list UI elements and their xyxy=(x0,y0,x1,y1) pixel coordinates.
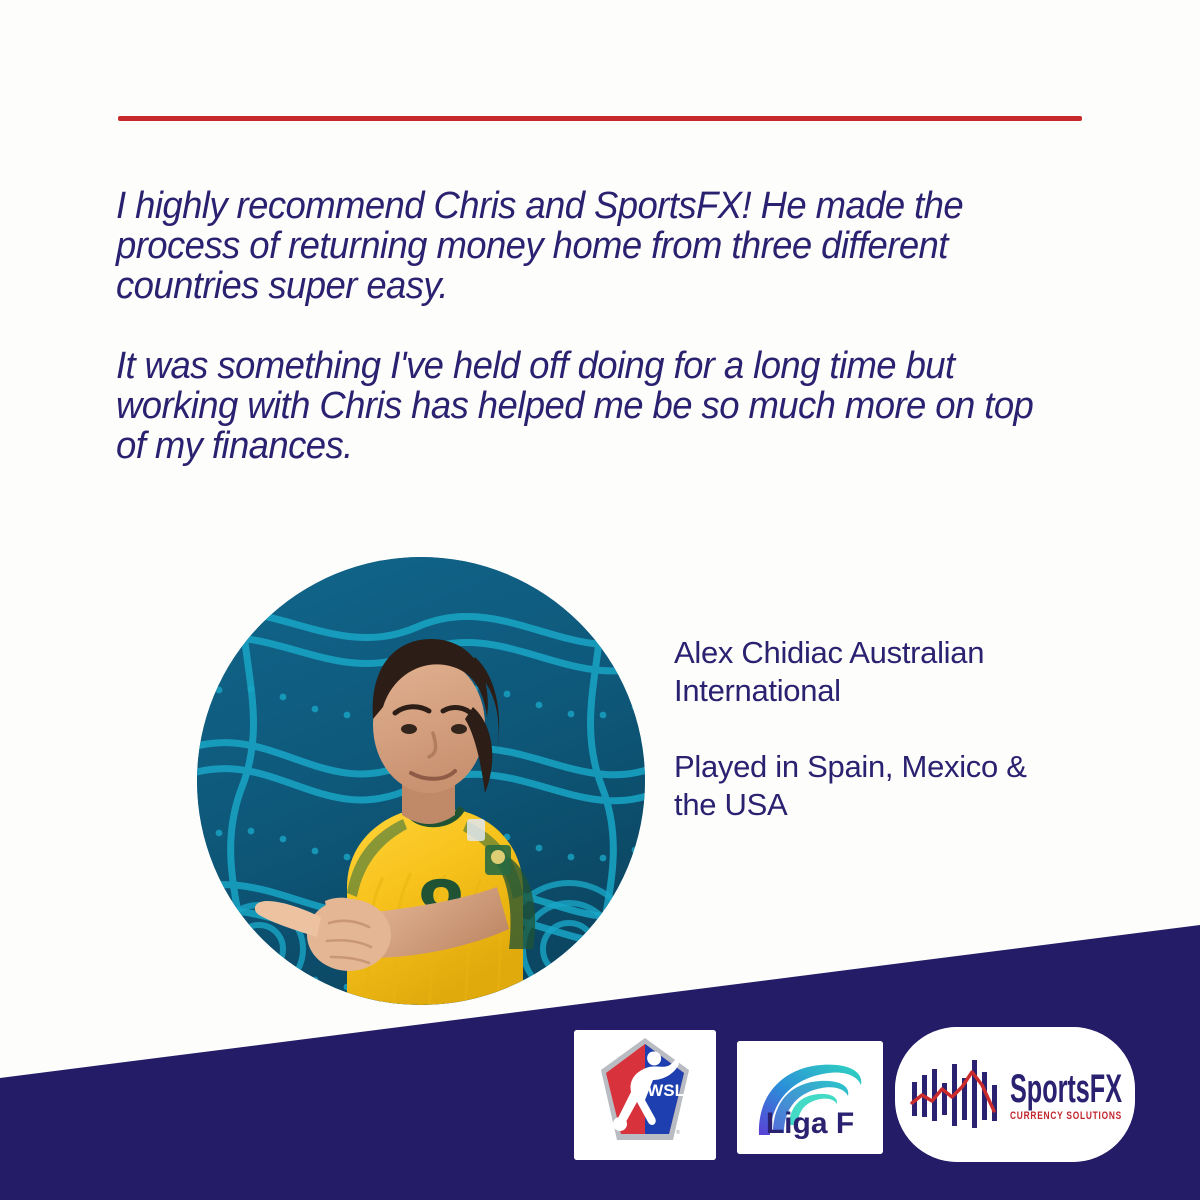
player-photo-illustration: 8 xyxy=(197,557,645,1005)
quote-paragraph-2: It was something I've held off doing for… xyxy=(116,346,1038,466)
attribution: Alex Chidiac Australian International Pl… xyxy=(674,634,1074,824)
diagonal-navy-band xyxy=(0,0,1200,1200)
player-photo: 8 xyxy=(197,557,645,1005)
sportsfx-logo-mark: SportsFX CURRENCY SOLUTIONS xyxy=(895,1027,1135,1162)
nwsl-trademark: ® xyxy=(676,1129,680,1136)
sportsfx-logo[interactable]: SportsFX CURRENCY SOLUTIONS xyxy=(895,1027,1135,1162)
liga-f-logo[interactable]: Liga F xyxy=(737,1041,883,1154)
liga-f-logo-mark: Liga F xyxy=(737,1041,883,1154)
testimonial-graphic: I highly recommend Chris and SportsFX! H… xyxy=(0,0,1200,1200)
quote-paragraph-1: I highly recommend Chris and SportsFX! H… xyxy=(116,186,1038,306)
attribution-detail: Played in Spain, Mexico & the USA xyxy=(674,748,1074,824)
attribution-name: Alex Chidiac Australian International xyxy=(674,634,1074,710)
partner-logo-row: NWSL ® xyxy=(0,0,1200,1200)
nwsl-wordmark: NWSL xyxy=(635,1081,685,1100)
sportsfx-tagline: CURRENCY SOLUTIONS xyxy=(1010,1110,1122,1122)
liga-f-wordmark: Liga F xyxy=(766,1107,854,1140)
sportsfx-wordmark: SportsFX xyxy=(1010,1067,1122,1111)
nwsl-logo-mark: NWSL ® xyxy=(574,1030,716,1160)
testimonial-quote: I highly recommend Chris and SportsFX! H… xyxy=(116,186,1038,466)
nwsl-logo[interactable]: NWSL ® xyxy=(574,1030,716,1160)
accent-rule xyxy=(118,116,1082,121)
